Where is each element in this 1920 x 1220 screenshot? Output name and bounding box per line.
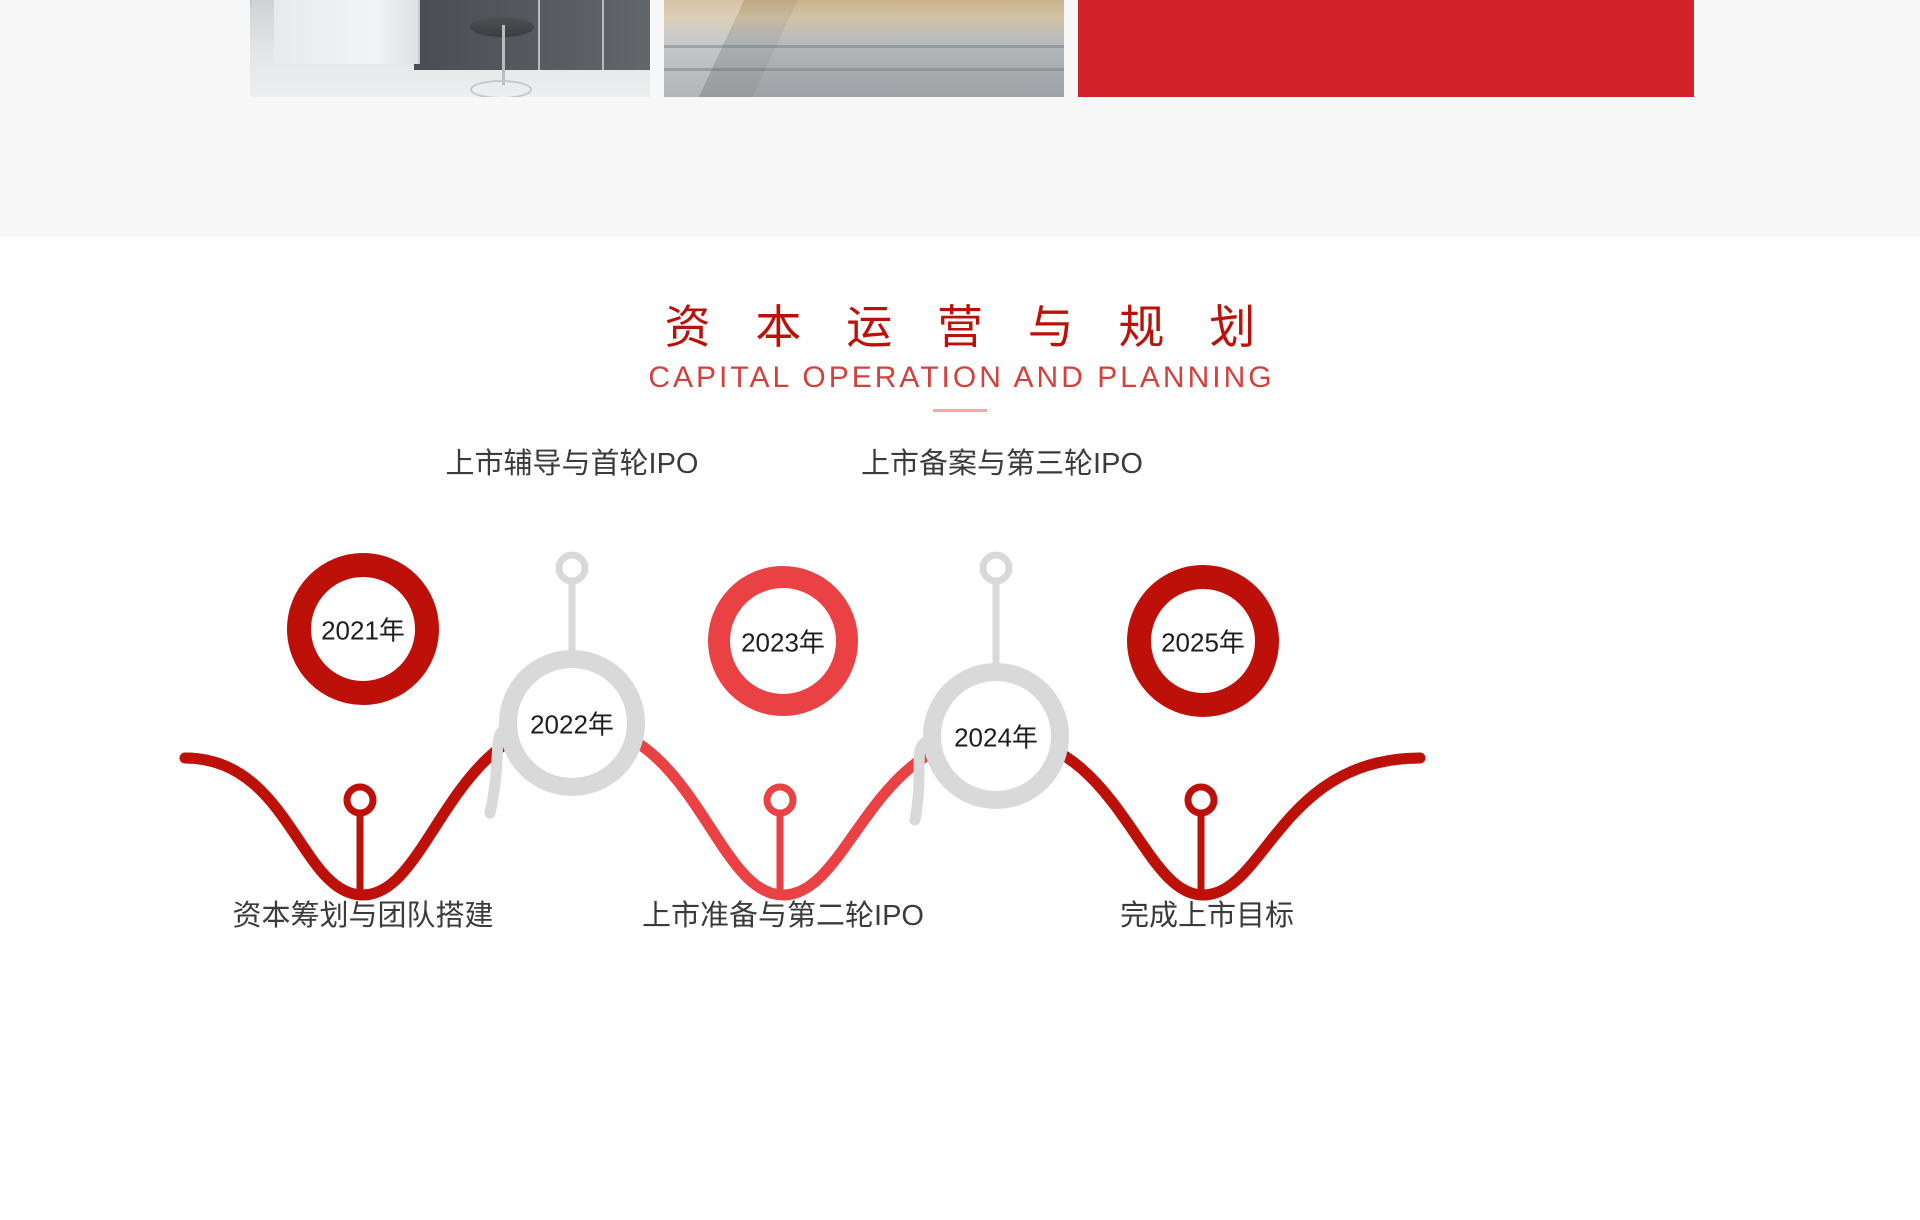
title-underline [933,409,987,412]
red-block [1078,0,1694,97]
stool-base-shape [470,80,532,97]
office-interior-photo [250,0,650,97]
stage-label-2025: 完成上市目标 [1120,892,1294,934]
year-label-2022: 2022年 [530,705,614,742]
stage-label-2024: 上市备案与第三轮IPO [861,440,1143,482]
stem-end-circle [1188,787,1214,813]
stage-label-2021: 资本筹划与团队搭建 [232,892,493,934]
heading-block: 资 本 运 营 与 规 划 CAPITAL OPERATION AND PLAN… [0,300,1920,412]
wall-shape [414,0,650,70]
stem-end-circle [767,787,793,813]
panel-divider-line [538,0,540,70]
stage-label-2023: 上市准备与第二轮IPO [642,892,924,934]
red-stem-group-2023 [767,785,793,895]
pavement-stripe [664,45,1064,48]
stem-end-circle [983,555,1009,581]
stage-label-2022: 上市辅导与首轮IPO [446,440,699,482]
timeline-wave-svg [0,500,1920,1220]
panel-divider-line [602,0,604,70]
stem-end-circle [559,555,585,581]
year-label-2021: 2021年 [321,611,405,648]
top-photo-band [0,0,1920,237]
red-stem-group-2021 [347,785,373,895]
year-label-2023: 2023年 [741,623,825,660]
red-stem-group-2025 [1188,785,1214,895]
cabinet-shape [274,0,420,64]
page-title: 资 本 运 营 与 规 划 [0,300,1920,355]
ground-pavement-photo [664,0,1064,97]
year-label-2025: 2025年 [1161,623,1245,660]
year-label-2024: 2024年 [954,718,1038,755]
page-subtitle: CAPITAL OPERATION AND PLANNING [0,361,1920,395]
capital-operation-timeline: 2021年 2022年 2023年 2024年 2025年 上市辅导与首轮IPO… [0,500,1920,1220]
stem-end-circle [347,787,373,813]
stool-leg-shape [502,25,505,85]
pavement-stripe [664,68,1064,71]
